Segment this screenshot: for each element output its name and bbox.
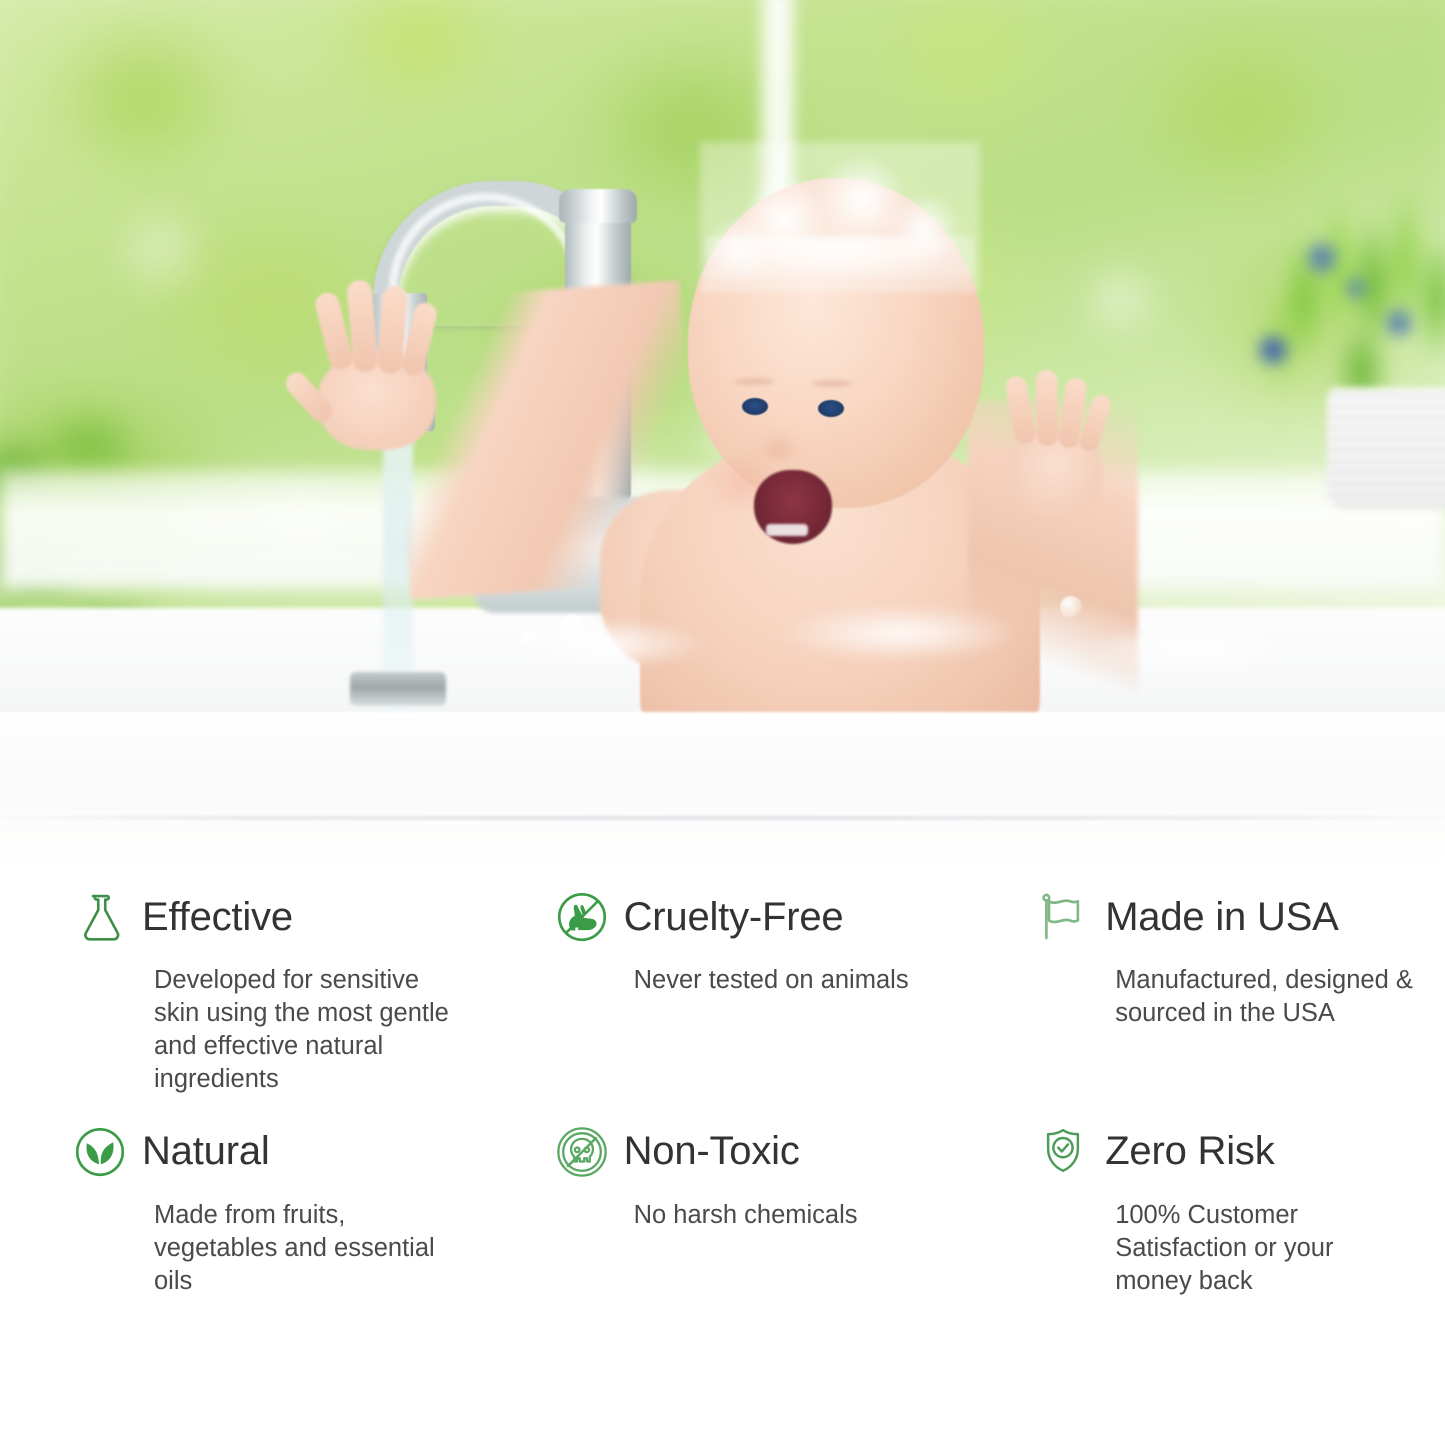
feature-row-2: Natural Made from fruits, vegetables and… (0, 1097, 1445, 1298)
feature-title: Made in USA (1105, 895, 1338, 940)
baby-eyebrow (734, 378, 774, 385)
feature-title: Effective (142, 895, 293, 940)
feature-grid: Effective Developed for sensitive skin u… (0, 880, 1445, 1445)
soap-foam-edge (706, 236, 974, 278)
baby-eye (742, 398, 768, 415)
feature-row-1: Effective Developed for sensitive skin u… (0, 880, 1445, 1097)
baby-eye (818, 400, 844, 417)
feature-title: Non-Toxic (624, 1129, 800, 1174)
product-feature-page: Effective Developed for sensitive skin u… (0, 0, 1445, 1445)
feature-zero-risk: Zero Risk 100% Customer Satisfaction or … (963, 1097, 1445, 1298)
soap-bubble (520, 628, 538, 646)
feature-title: Zero Risk (1105, 1129, 1274, 1174)
sink-drain (350, 672, 446, 706)
feature-heading: Effective (72, 880, 460, 954)
no-rabbit-icon (554, 889, 610, 945)
feature-made-in-usa: Made in USA Manufactured, designed & sou… (963, 880, 1445, 1097)
photo-fade-to-white (0, 760, 1445, 860)
feature-heading: Cruelty-Free (554, 880, 942, 954)
baby-left-hand (292, 276, 452, 456)
feature-description: Developed for sensitive skin using the m… (154, 964, 460, 1097)
feature-description: Manufactured, designed & sourced in the … (1115, 964, 1415, 1030)
flag-icon (1035, 889, 1091, 945)
feature-natural: Natural Made from fruits, vegetables and… (0, 1097, 482, 1298)
feature-description: 100% Customer Satisfaction or your money… (1115, 1199, 1415, 1298)
feature-heading: Non-Toxic (554, 1115, 942, 1189)
flask-icon (72, 889, 128, 945)
baby-nose (756, 430, 800, 460)
feature-heading: Made in USA (1035, 880, 1423, 954)
feature-description: Never tested on animals (634, 964, 942, 997)
feature-title: Natural (142, 1129, 270, 1174)
feature-non-toxic: Non-Toxic No harsh chemicals (482, 1097, 964, 1298)
leaves-icon (72, 1124, 128, 1180)
feature-description: Made from fruits, vegetables and essenti… (154, 1199, 460, 1298)
shield-check-icon (1035, 1124, 1091, 1180)
feature-title: Cruelty-Free (624, 895, 844, 940)
finger (1004, 375, 1036, 446)
baby-right-hand (988, 372, 1118, 522)
baby-teeth (766, 524, 808, 536)
no-skull-icon (554, 1124, 610, 1180)
finger (1035, 370, 1058, 446)
feature-effective: Effective Developed for sensitive skin u… (0, 880, 482, 1097)
soap-bubble (1060, 596, 1082, 618)
feature-heading: Zero Risk (1035, 1115, 1423, 1189)
feature-description: No harsh chemicals (634, 1199, 942, 1232)
soap-bubble (560, 614, 586, 640)
feature-heading: Natural (72, 1115, 460, 1189)
hero-photo (0, 0, 1445, 860)
baby-eyebrow (812, 380, 852, 387)
feature-cruelty-free: Cruelty-Free Never tested on animals (482, 880, 964, 1097)
